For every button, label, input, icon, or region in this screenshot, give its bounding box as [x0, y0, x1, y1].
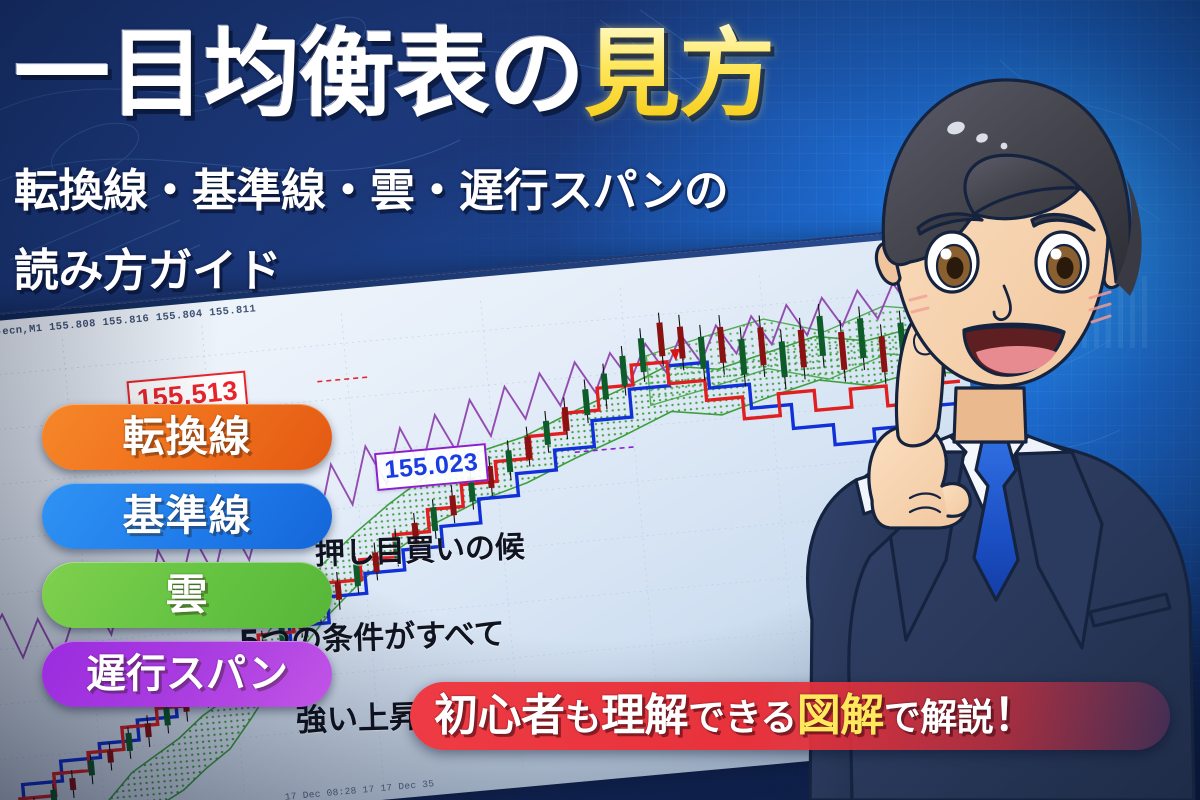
- cta-banner-text: 初心者も理解できる図解で解説！: [434, 694, 1037, 738]
- pill-label: 雲: [165, 574, 208, 616]
- pill-label: 遅行スパン: [86, 654, 288, 694]
- pill-label: 転換線: [122, 416, 251, 458]
- subtitle-line-2: 読み方ガイド: [14, 248, 874, 294]
- cta-part-2: も: [565, 696, 602, 739]
- pill-kijun-sen[interactable]: 基準線: [42, 483, 332, 549]
- pill-label: 基準線: [122, 495, 251, 537]
- cta-part-4: できる: [688, 696, 797, 739]
- cta-part-5: で解説: [884, 696, 994, 739]
- cta-banner[interactable]: 初心者も理解できる図解で解説！: [410, 682, 1170, 750]
- title-white-part: 一目均衡表の: [14, 18, 584, 130]
- title-yellow-part: 見方: [584, 18, 774, 130]
- thumbnail-canvas: USDJPY-ecn,M1 155.808 155.816 155.804 15…: [0, 0, 1200, 800]
- cta-part-3: 理解: [601, 690, 688, 741]
- pill-kumo[interactable]: 雲: [42, 562, 332, 628]
- cta-highlight: 図解: [797, 690, 884, 741]
- pill-tenkan-sen[interactable]: 転換線: [42, 404, 332, 470]
- cta-part-1: 初心者: [434, 690, 565, 741]
- subtitle-line-1: 転換線・基準線・雲・遅行スパンの: [14, 168, 874, 214]
- ichimoku-component-list: 転換線 基準線 雲 遅行スパン: [42, 404, 332, 720]
- pill-chikou-span[interactable]: 遅行スパン: [42, 641, 332, 707]
- presenter-character: [760, 0, 1200, 800]
- cta-part-6: ！: [993, 690, 1037, 741]
